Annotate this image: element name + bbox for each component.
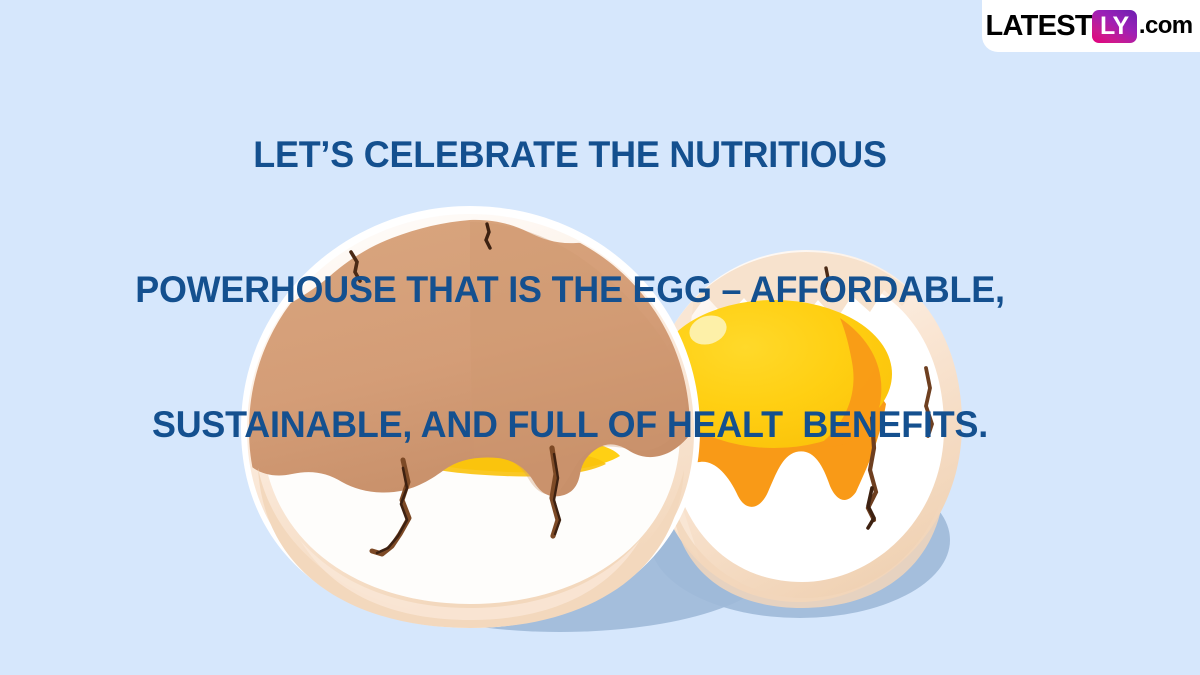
graphic-canvas: LET’S CELEBRATE THE NUTRITIOUS POWERHOUS… [0, 0, 1200, 675]
latestly-logo[interactable]: LATEST LY .com [982, 0, 1200, 52]
logo-wordmark-com: .com [1139, 14, 1193, 38]
logo-row: LATEST LY .com [985, 10, 1192, 43]
headline-text: LET’S CELEBRATE THE NUTRITIOUS POWERHOUS… [60, 42, 1080, 537]
headline-line-1: LET’S CELEBRATE THE NUTRITIOUS [75, 132, 1064, 177]
logo-badge-ly: LY [1092, 10, 1137, 43]
headline-line-3: SUSTAINABLE, AND FULL OF HEALT BENEFITS. [75, 402, 1064, 447]
logo-wordmark-latest: LATEST [985, 12, 1091, 41]
headline-line-2: POWERHOUSE THAT IS THE EGG – AFFORDABLE, [75, 267, 1064, 312]
